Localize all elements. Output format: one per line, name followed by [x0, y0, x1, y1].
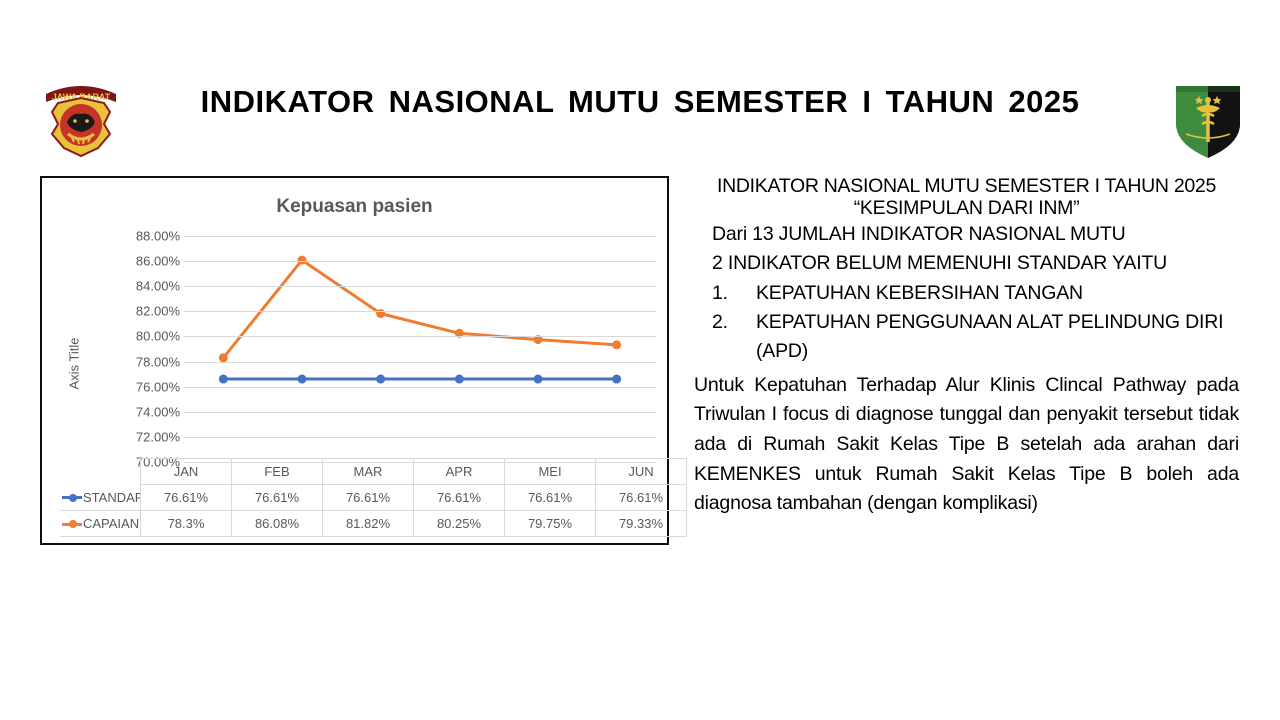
table-header-jan: JAN [141, 459, 232, 485]
hospital-caduceus-emblem-icon [1166, 72, 1250, 164]
y-axis-tick: 72.00% [136, 429, 180, 444]
table-row: STANDAR76.61%76.61%76.61%76.61%76.61%76.… [60, 485, 687, 511]
data-point-capaian-jun [612, 340, 621, 349]
chart-series-svg [184, 236, 656, 462]
table-row: JANFEBMARAPRMEIJUN [60, 459, 687, 485]
data-point-capaian-feb [298, 256, 307, 265]
gridline [184, 311, 656, 312]
panel-heading: INDIKATOR NASIONAL MUTU SEMESTER I TAHUN… [694, 176, 1239, 198]
legend-marker-icon [62, 523, 82, 526]
legend-label: CAPAIAN [83, 517, 139, 532]
chart-container: Kepuasan pasien Axis Title 88.00%86.00%8… [40, 176, 669, 545]
indicator-list: 1.KEPATUHAN KEBERSIHAN TANGAN2.KEPATUHAN… [694, 279, 1239, 367]
panel-subheading: “KESIMPULAN DARI INM” [694, 198, 1239, 220]
indicator-list-item-1: 1.KEPATUHAN KEBERSIHAN TANGAN [712, 279, 1239, 308]
table-cell-standar-mei: 76.61% [505, 485, 596, 511]
legend-item-capaian: CAPAIAN [60, 511, 141, 537]
table-cell-capaian-jun: 79.33% [596, 511, 687, 537]
y-axis-tick-labels: 88.00%86.00%84.00%82.00%80.00%78.00%76.0… [104, 236, 180, 462]
data-point-standar-jan [219, 375, 228, 384]
table-cell-capaian-mei: 79.75% [505, 511, 596, 537]
gridline [184, 236, 656, 237]
legend-marker-icon [62, 496, 82, 499]
panel-line-1: Dari 13 JUMLAH INDIKATOR NASIONAL MUTU [712, 220, 1239, 250]
plot-area [184, 236, 656, 462]
data-point-standar-jun [612, 375, 621, 384]
legend-label: STANDAR [83, 490, 141, 505]
gridline [184, 437, 656, 438]
gridline [184, 362, 656, 363]
chart-data-table: JANFEBMARAPRMEIJUNSTANDAR76.61%76.61%76.… [60, 458, 687, 537]
data-point-standar-feb [298, 375, 307, 384]
y-axis-title: Axis Title [67, 314, 82, 414]
gridline [184, 286, 656, 287]
data-point-standar-mar [376, 375, 385, 384]
y-axis-tick: 88.00% [136, 229, 180, 244]
list-item-number: 2. [712, 308, 756, 337]
table-row: CAPAIAN78.3%86.08%81.82%80.25%79.75%79.3… [60, 511, 687, 537]
table-corner-cell [60, 459, 141, 485]
indicator-list-item-2: 2.KEPATUHAN PENGGUNAAN ALAT PELINDUNG DI… [712, 308, 1239, 367]
table-cell-standar-apr: 76.61% [414, 485, 505, 511]
table-cell-standar-jan: 76.61% [141, 485, 232, 511]
y-axis-tick: 76.00% [136, 379, 180, 394]
gridline [184, 261, 656, 262]
data-point-standar-mei [534, 375, 543, 384]
y-axis-tick: 74.00% [136, 404, 180, 419]
y-axis-tick: 84.00% [136, 279, 180, 294]
list-item-text: KEPATUHAN PENGGUNAAN ALAT PELINDUNG DIRI… [756, 311, 1223, 362]
table-header-feb: FEB [232, 459, 323, 485]
table-cell-standar-jun: 76.61% [596, 485, 687, 511]
gridline [184, 336, 656, 337]
y-axis-tick: 86.00% [136, 254, 180, 269]
gridline [184, 412, 656, 413]
list-item-number: 1. [712, 279, 756, 308]
table-cell-capaian-jan: 78.3% [141, 511, 232, 537]
y-axis-tick: 78.00% [136, 354, 180, 369]
table-cell-capaian-feb: 86.08% [232, 511, 323, 537]
table-header-apr: APR [414, 459, 505, 485]
panel-line-2: 2 INDIKATOR BELUM MEMENUHI STANDAR YAITU [712, 249, 1239, 279]
table-header-mei: MEI [505, 459, 596, 485]
gridline [184, 387, 656, 388]
chart-data-table-body: JANFEBMARAPRMEIJUNSTANDAR76.61%76.61%76.… [60, 459, 687, 537]
y-axis-tick: 80.00% [136, 329, 180, 344]
table-header-mar: MAR [323, 459, 414, 485]
table-cell-capaian-mar: 81.82% [323, 511, 414, 537]
data-point-standar-apr [455, 375, 464, 384]
y-axis-tick: 82.00% [136, 304, 180, 319]
page-title: INDIKATOR NASIONAL MUTU SEMESTER I TAHUN… [150, 84, 1130, 120]
jawa-barat-police-emblem-icon: JAWA BARAT [34, 72, 128, 164]
panel-paragraph: Untuk Kepatuhan Terhadap Alur Klinis Cli… [694, 371, 1239, 519]
table-header-jun: JUN [596, 459, 687, 485]
table-cell-capaian-apr: 80.25% [414, 511, 505, 537]
summary-panel: INDIKATOR NASIONAL MUTU SEMESTER I TAHUN… [694, 176, 1239, 519]
series-line-capaian [223, 260, 616, 358]
table-cell-standar-feb: 76.61% [232, 485, 323, 511]
chart-title: Kepuasan pasien [42, 196, 667, 218]
legend-item-standar: STANDAR [60, 485, 141, 511]
table-cell-standar-mar: 76.61% [323, 485, 414, 511]
list-item-text: KEPATUHAN KEBERSIHAN TANGAN [756, 282, 1083, 304]
